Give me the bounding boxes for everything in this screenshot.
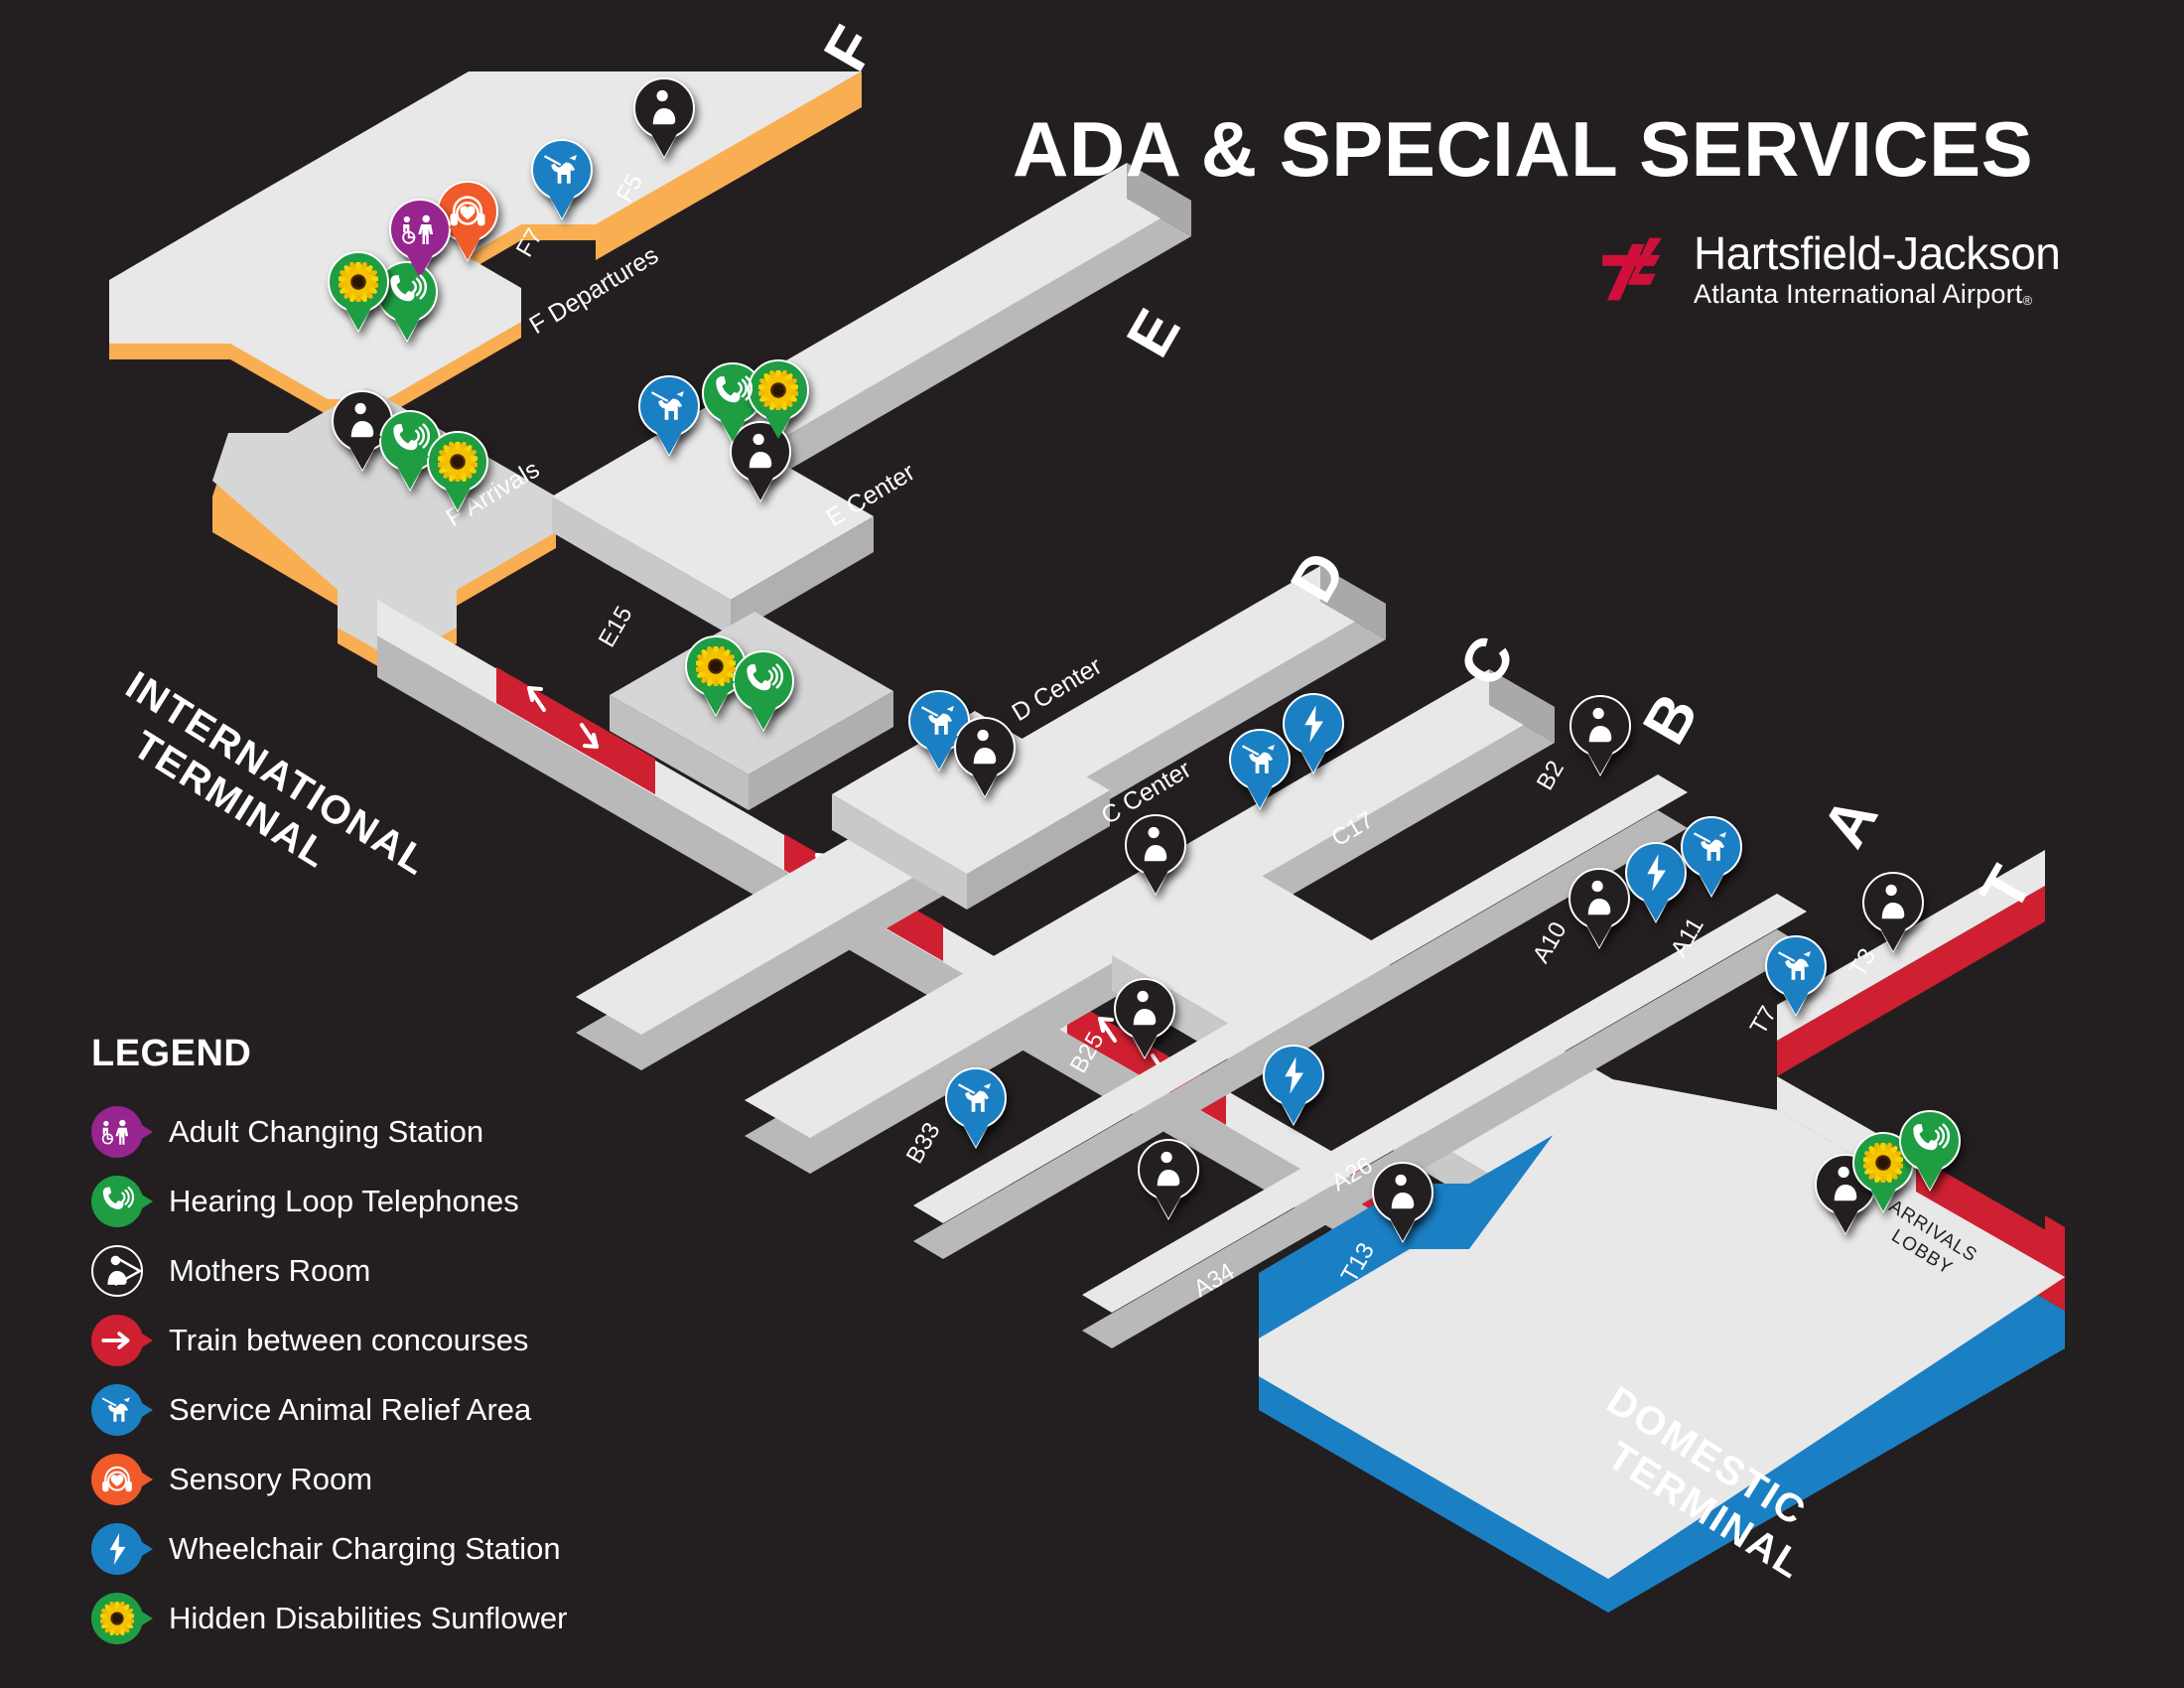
- logo-line-2: Atlanta International Airport®: [1694, 281, 2060, 308]
- map-pin-a10-wheelchair[interactable]: [1625, 842, 1687, 925]
- legend-item-wheelchair-charging: Wheelchair Charging Station: [91, 1514, 707, 1584]
- legend-item-adult-changing: Adult Changing Station: [91, 1097, 707, 1167]
- legend-item-label: Train between concourses: [169, 1323, 528, 1358]
- legend-item-label: Hidden Disabilities Sunflower: [169, 1601, 567, 1636]
- map-pin-c-wheelchair[interactable]: [1283, 693, 1344, 776]
- legend-item-mothers-room: Mothers Room: [91, 1236, 707, 1306]
- legend-rows: Adult Changing Station Hearing Loop Tele…: [91, 1097, 707, 1653]
- map-pin-e15-phone[interactable]: [733, 650, 794, 734]
- hartsfield-jackson-logo-mark: [1600, 236, 1680, 302]
- map-pin-a11-service-animal[interactable]: [1681, 816, 1742, 900]
- logo-trademark: ®: [2023, 293, 2033, 308]
- service-animal-icon: [91, 1384, 153, 1436]
- legend-item-label: Mothers Room: [169, 1253, 370, 1289]
- map-pin-d-mothers[interactable]: [954, 717, 1016, 800]
- legend-item-label: Sensory Room: [169, 1462, 372, 1497]
- legend-item-hearing-loop-phone: Hearing Loop Telephones: [91, 1167, 707, 1236]
- map-pin-f-arr-sunflower[interactable]: [427, 431, 488, 514]
- map-pin-t7-service-animal[interactable]: [1765, 935, 1827, 1019]
- logo-line-2-text: Atlanta International Airport: [1694, 279, 2023, 309]
- legend-item-label: Service Animal Relief Area: [169, 1392, 531, 1428]
- legend-item-label: Wheelchair Charging Station: [169, 1531, 561, 1567]
- legend-title: LEGEND: [91, 1033, 707, 1075]
- adult-changing-icon: [91, 1106, 153, 1158]
- map-pin-b2-mothers[interactable]: [1570, 695, 1631, 778]
- map-pin-c-service-animal[interactable]: [1229, 729, 1291, 812]
- map-pin-a10-mothers[interactable]: [1569, 868, 1630, 951]
- legend-item-label: Adult Changing Station: [169, 1114, 483, 1150]
- legend-item-sensory-room: Sensory Room: [91, 1445, 707, 1514]
- airport-logo: Hartsfield-Jackson Atlanta International…: [1600, 230, 2060, 308]
- page-title: ADA & SPECIAL SERVICES: [1013, 104, 2033, 195]
- map-pin-a26-wheelchair[interactable]: [1263, 1045, 1324, 1128]
- legend-item-sunflower: Hidden Disabilities Sunflower: [91, 1584, 707, 1653]
- map-pin-t13-mothers[interactable]: [1372, 1162, 1433, 1245]
- legend-item-label: Hearing Loop Telephones: [169, 1184, 519, 1219]
- legend: LEGEND Adult Changing Station Hearing Lo…: [91, 1033, 707, 1653]
- map-pin-e-service-animal[interactable]: [638, 375, 700, 459]
- map-pin-b25-mothers[interactable]: [1114, 978, 1175, 1061]
- legend-item-train-arrow: Train between concourses: [91, 1306, 707, 1375]
- map-pin-f5-service-animal[interactable]: [531, 139, 593, 222]
- sunflower-icon: [91, 1593, 153, 1644]
- mothers-room-icon: [91, 1245, 153, 1297]
- map-pin-c-center-mothers[interactable]: [1125, 814, 1186, 898]
- train-arrow-icon: [91, 1315, 153, 1366]
- map-pin-a34-mothers[interactable]: [1138, 1139, 1199, 1222]
- map-pin-b33-service-animal[interactable]: [945, 1067, 1007, 1151]
- hearing-loop-phone-icon: [91, 1176, 153, 1227]
- wheelchair-charging-icon: [91, 1523, 153, 1575]
- logo-line-1: Hartsfield-Jackson: [1694, 230, 2060, 276]
- map-pin-f5-mothers[interactable]: [633, 77, 695, 161]
- sensory-room-icon: [91, 1454, 153, 1505]
- map-pin-t3-mothers[interactable]: [1862, 872, 1924, 955]
- map-pin-e-mothers[interactable]: [730, 421, 791, 504]
- legend-item-service-animal: Service Animal Relief Area: [91, 1375, 707, 1445]
